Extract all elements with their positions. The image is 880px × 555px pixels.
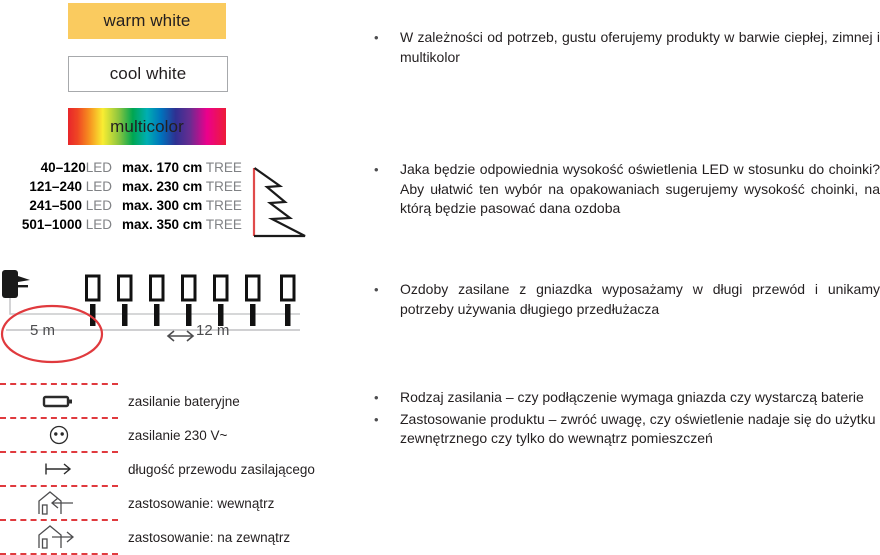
led-count-cell: 121–240 LED bbox=[0, 179, 112, 194]
tree-height-cell: max. 350 cm TREE bbox=[112, 217, 240, 232]
tree-height-unit: TREE bbox=[206, 160, 242, 175]
badge-multicolor-label: multicolor bbox=[110, 117, 184, 137]
list-item: długość przewodu zasilającego bbox=[0, 453, 330, 485]
led-count-unit: LED bbox=[86, 160, 112, 175]
list-item: zasilanie bateryjne bbox=[0, 385, 330, 417]
led-count-cell: 40–120LED bbox=[0, 160, 112, 175]
tree-height-unit: TREE bbox=[206, 198, 242, 213]
left-illustration-column: warm white cool white multicolor 40–120L… bbox=[0, 0, 350, 552]
string-light-diagram: 5 m 12 m bbox=[0, 262, 320, 367]
tree-height-cell: max. 230 cm TREE bbox=[112, 179, 240, 194]
tree-height-cell: max. 170 cm TREE bbox=[112, 160, 240, 175]
led-count-unit: LED bbox=[86, 179, 112, 194]
lead-length-label: 5 m bbox=[30, 322, 55, 339]
led-count-value: 501–1000 bbox=[22, 217, 82, 232]
tree-height-cell: max. 300 cm TREE bbox=[112, 198, 240, 213]
bullet-text: Rodzaj zasilania – czy podłączenie wymag… bbox=[400, 388, 880, 408]
house-indoor-icon bbox=[0, 488, 118, 518]
list-item: • Ozdoby zasilane z gniazdka wyposażamy … bbox=[370, 280, 880, 319]
led-count-value: 241–500 bbox=[29, 198, 82, 213]
bullet-text: Zastosowanie produktu – zwróć uwagę, czy… bbox=[400, 410, 880, 449]
bullet-marker: • bbox=[370, 28, 400, 67]
list-item: zasilanie 230 V~ bbox=[0, 419, 330, 451]
bullet-marker: • bbox=[370, 410, 400, 449]
bullet-text: Jaka będzie odpowiednia wysokość oświetl… bbox=[400, 160, 880, 219]
tree-height-value: max. 170 cm bbox=[122, 160, 202, 175]
list-item: • Jaka będzie odpowiednia wysokość oświe… bbox=[370, 160, 880, 219]
list-item: • Zastosowanie produktu – zwróć uwagę, c… bbox=[370, 410, 880, 449]
house-outdoor-icon bbox=[0, 522, 118, 552]
led-count-cell: 501–1000 LED bbox=[0, 217, 112, 232]
infographic-page: warm white cool white multicolor 40–120L… bbox=[0, 0, 880, 552]
bulb-group bbox=[87, 276, 295, 326]
legend-label: zastosowanie: na zewnątrz bbox=[118, 530, 290, 545]
bullet-group-colors: • W zależności od potrzeb, gustu oferuje… bbox=[370, 28, 880, 69]
bullet-text: Ozdoby zasilane z gniazdka wyposażamy w … bbox=[400, 280, 880, 319]
length-arrow-icon bbox=[168, 331, 193, 341]
led-count-value: 121–240 bbox=[29, 179, 82, 194]
lit-length-label: 12 m bbox=[196, 322, 229, 339]
list-item: • W zależności od potrzeb, gustu oferuje… bbox=[370, 28, 880, 67]
bullet-text: W zależności od potrzeb, gustu oferujemy… bbox=[400, 28, 880, 67]
bullet-group-power-usage: • Rodzaj zasilania – czy podłączenie wym… bbox=[370, 388, 880, 451]
cable-length-icon bbox=[0, 460, 118, 478]
badge-multicolor: multicolor bbox=[68, 108, 226, 145]
led-count-unit: LED bbox=[86, 198, 112, 213]
led-count-cell: 241–500 LED bbox=[0, 198, 112, 213]
badge-cool-white: cool white bbox=[68, 56, 228, 92]
right-text-column: • W zależności od potrzeb, gustu oferuje… bbox=[370, 0, 880, 552]
list-item: zastosowanie: na zewnątrz bbox=[0, 521, 330, 553]
christmas-tree-icon bbox=[250, 164, 310, 247]
power-socket-icon bbox=[0, 422, 118, 448]
bullet-group-height: • Jaka będzie odpowiednia wysokość oświe… bbox=[370, 160, 880, 221]
list-item: zastosowanie: wewnątrz bbox=[0, 487, 330, 519]
badge-warm-white: warm white bbox=[68, 3, 226, 39]
tree-height-value: max. 230 cm bbox=[122, 179, 202, 194]
tree-height-unit: TREE bbox=[206, 179, 242, 194]
list-item: • Rodzaj zasilania – czy podłączenie wym… bbox=[370, 388, 880, 408]
plug-icon bbox=[2, 270, 30, 298]
legend-label: zasilanie bateryjne bbox=[118, 394, 240, 409]
badge-warm-white-label: warm white bbox=[104, 11, 191, 31]
legend-label: zasilanie 230 V~ bbox=[118, 428, 227, 443]
bullet-marker: • bbox=[370, 160, 400, 219]
bullet-marker: • bbox=[370, 280, 400, 319]
led-count-unit: LED bbox=[86, 217, 112, 232]
badge-cool-white-label: cool white bbox=[110, 64, 187, 84]
symbol-legend: zasilanie bateryjne zasilanie 230 V~ bbox=[0, 383, 330, 555]
legend-label: długość przewodu zasilającego bbox=[118, 462, 315, 477]
tree-height-unit: TREE bbox=[206, 217, 242, 232]
tree-height-value: max. 300 cm bbox=[122, 198, 202, 213]
led-count-value: 40–120 bbox=[41, 160, 86, 175]
bullet-marker: • bbox=[370, 388, 400, 408]
bullet-group-cable: • Ozdoby zasilane z gniazdka wyposażamy … bbox=[370, 280, 880, 321]
tree-height-value: max. 350 cm bbox=[122, 217, 202, 232]
legend-label: zastosowanie: wewnątrz bbox=[118, 496, 274, 511]
battery-icon bbox=[0, 392, 118, 410]
